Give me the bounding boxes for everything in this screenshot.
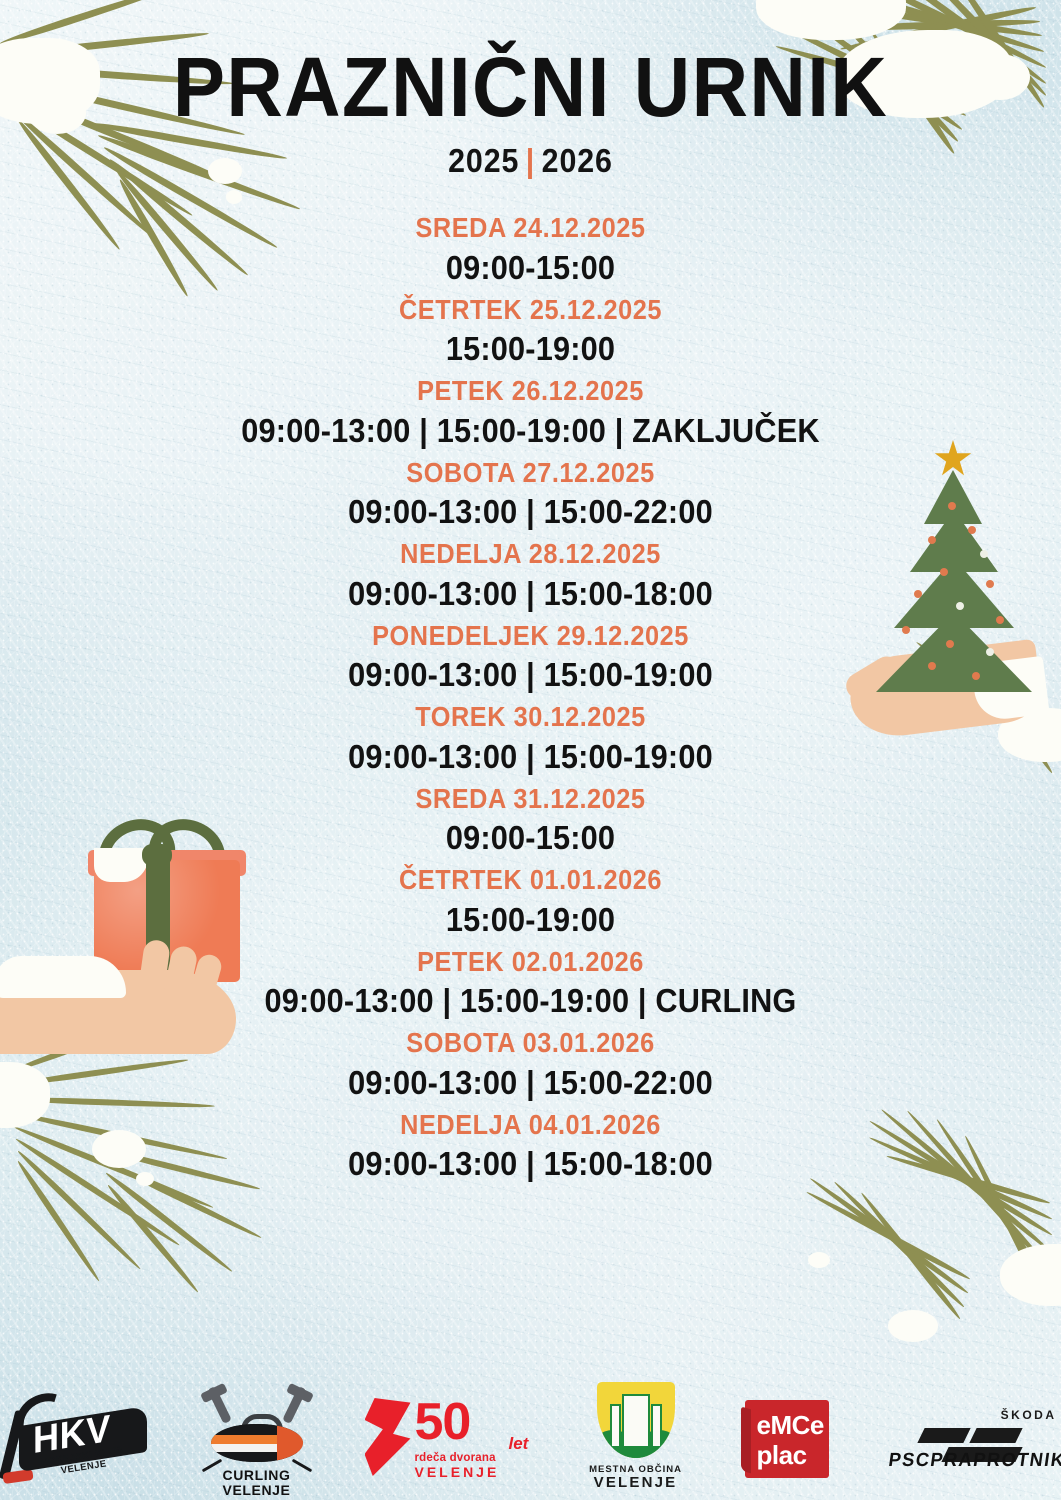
- schedule-day: TOREK 30.12.2025: [42, 703, 1018, 731]
- schedule-hours: 09:00-13:00 | 15:00-18:00: [37, 1147, 1024, 1180]
- schedule-day: SOBOTA 03.01.2026: [42, 1029, 1018, 1057]
- anniversary-line2: VELENJE: [415, 1464, 500, 1480]
- season-end: 2026: [542, 142, 613, 179]
- psc-name: PSCPRAPROTNIK: [886, 1450, 1058, 1472]
- anniversary-unit: let: [509, 1434, 529, 1454]
- pine-branch-bottom-right: [720, 1160, 1061, 1410]
- sponsor-logo-row: HKV HOKEJSKI KLUB VELENJE CURLING: [0, 1382, 1061, 1486]
- schedule-day: PETEK 02.01.2026: [42, 948, 1018, 976]
- holiday-schedule-poster: PRAZNIČNI URNIK 2025|2026 SREDA 24.12.20…: [0, 0, 1061, 1500]
- schedule-hours: 09:00-13:00 | 15:00-19:00 | CURLING: [37, 984, 1024, 1017]
- schedule-hours: 09:00-15:00: [37, 251, 1024, 284]
- schedule-hours: 15:00-19:00: [37, 332, 1024, 365]
- schedule-day: SREDA 24.12.2025: [42, 214, 1018, 242]
- emce-line1: eMCe: [757, 1410, 824, 1441]
- municipality-crest-icon: [597, 1382, 675, 1458]
- emce-line2: plac: [757, 1440, 807, 1471]
- schedule-hours: 09:00-15:00: [37, 821, 1024, 854]
- curling-line1: CURLING: [223, 1467, 291, 1483]
- season-start: 2025: [448, 142, 519, 179]
- schedule-day: SREDA 31.12.2025: [42, 785, 1018, 813]
- municipality-line2: VELENJE: [577, 1474, 695, 1491]
- anniversary-number: 50: [415, 1396, 471, 1448]
- curling-line2: VELENJE: [223, 1482, 291, 1498]
- anniversary-line1: rdeča dvorana: [415, 1452, 496, 1464]
- schedule-hours: 09:00-13:00 | 15:00-19:00: [37, 740, 1024, 773]
- logo-curling-velenje: CURLING VELENJE: [197, 1384, 317, 1486]
- logo-emce-plac: eMCe plac: [741, 1394, 839, 1486]
- schedule-day: PONEDELJEK 29.12.2025: [42, 622, 1018, 650]
- schedule-day: PETEK 26.12.2025: [42, 377, 1018, 405]
- logo-hkv: HKV HOKEJSKI KLUB VELENJE: [1, 1390, 151, 1486]
- anniversary-flag-icon: [365, 1398, 411, 1476]
- logo-psc-praprotnik: ŠKODA PSCPRAPROTNIK: [885, 1398, 1061, 1486]
- page-title: PRAZNIČNI URNIK: [37, 0, 1024, 128]
- schedule-hours: 09:00-13:00 | 15:00-19:00 | ZAKLJUČEK: [37, 414, 1024, 447]
- schedule-day: NEDELJA 04.01.2026: [42, 1111, 1018, 1139]
- season-separator: |: [519, 142, 541, 179]
- season-subtitle: 2025|2026: [42, 142, 1018, 180]
- logo-50-let: 50 let rdeča dvorana VELENJE: [363, 1390, 531, 1486]
- schedule-hours: 15:00-19:00: [37, 903, 1024, 936]
- logo-mestna-obcina-velenje: MESTNA OBČINA VELENJE: [577, 1382, 695, 1486]
- skoda-brand-label: ŠKODA: [1001, 1408, 1057, 1422]
- schedule-day: SOBOTA 27.12.2025: [42, 459, 1018, 487]
- schedule-day: ČETRTEK 01.01.2026: [42, 866, 1018, 894]
- psc-mark-icon: [917, 1428, 970, 1443]
- curling-stone-icon: [211, 1424, 303, 1462]
- schedule-hours: 09:00-13:00 | 15:00-22:00: [37, 1066, 1024, 1099]
- schedule-day: NEDELJA 28.12.2025: [42, 540, 1018, 568]
- schedule-day: ČETRTEK 25.12.2025: [42, 296, 1018, 324]
- schedule-hours: 09:00-13:00 | 15:00-18:00: [37, 577, 1024, 610]
- schedule-hours: 09:00-13:00 | 15:00-19:00: [37, 658, 1024, 691]
- schedule-hours: 09:00-13:00 | 15:00-22:00: [37, 495, 1024, 528]
- schedule-list: SREDA 24.12.2025 09:00-15:00 ČETRTEK 25.…: [0, 214, 1061, 1180]
